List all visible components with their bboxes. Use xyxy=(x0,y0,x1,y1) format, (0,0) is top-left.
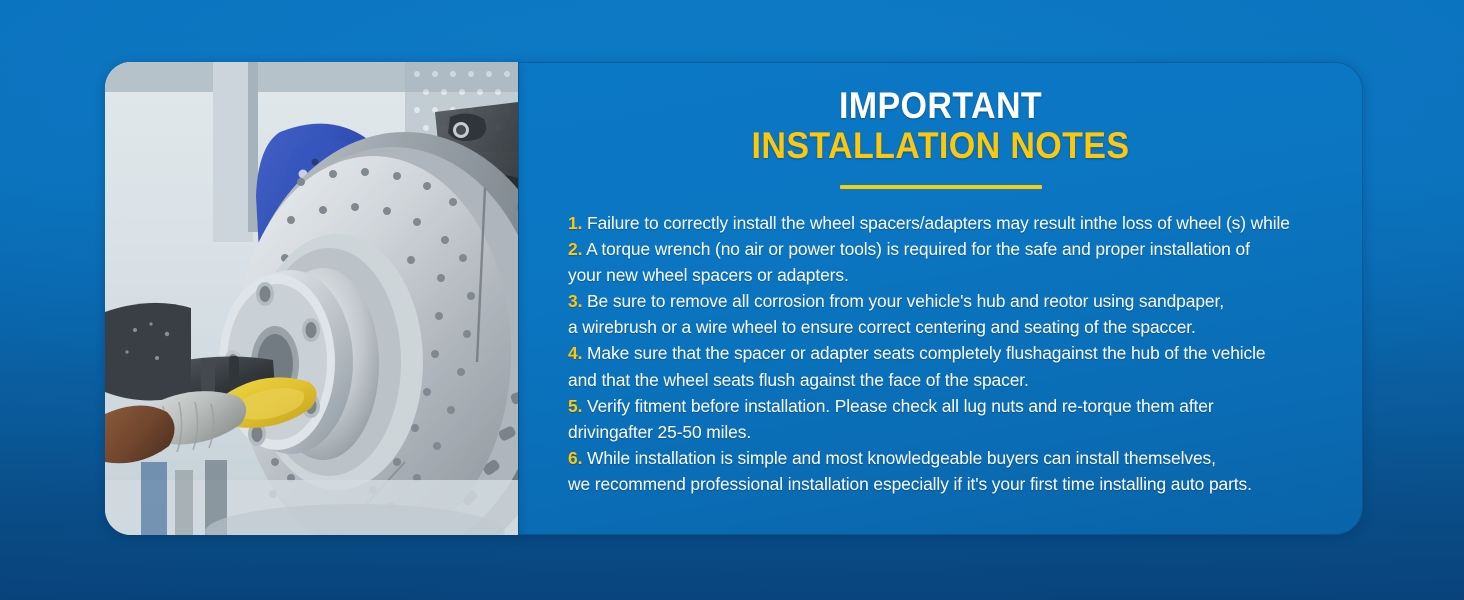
note-text: A torque wrench (no air or power tools) … xyxy=(586,239,1250,259)
note-number: 3. xyxy=(568,291,582,311)
note-text: a wirebrush or a wire wheel to ensure co… xyxy=(568,317,1196,337)
note-text: your new wheel spacers or adapters. xyxy=(568,265,849,285)
note-item: 5. Verify fitment before installation. P… xyxy=(568,393,1349,419)
note-number: 2. xyxy=(568,239,582,259)
note-text: Make sure that the spacer or adapter sea… xyxy=(587,343,1265,363)
note-text: and that the wheel seats flush against t… xyxy=(568,370,1029,390)
title-installation-notes: INSTALLATION NOTES xyxy=(552,126,1329,166)
note-continuation-line: and that the wheel seats flush against t… xyxy=(568,367,1349,393)
note-text: drivingafter 25-50 miles. xyxy=(568,422,751,442)
promo-banner: IMPORTANT INSTALLATION NOTES 1. Failure … xyxy=(0,0,1464,600)
note-text: Verify fitment before installation. Plea… xyxy=(587,396,1214,416)
installation-notes-card: IMPORTANT INSTALLATION NOTES 1. Failure … xyxy=(518,62,1363,535)
note-item: 2. A torque wrench (no air or power tool… xyxy=(568,236,1349,262)
note-number: 5. xyxy=(568,396,582,416)
note-text: Failure to correctly install the wheel s… xyxy=(587,213,1290,233)
note-number: 4. xyxy=(568,343,582,363)
note-text: While installation is simple and most kn… xyxy=(587,448,1216,468)
note-item: 4. Make sure that the spacer or adapter … xyxy=(568,340,1349,366)
note-continuation-line: your new wheel spacers or adapters. xyxy=(568,262,1349,288)
note-text: Be sure to remove all corrosion from you… xyxy=(587,291,1224,311)
note-number: 6. xyxy=(568,448,582,468)
note-continuation-line: drivingafter 25-50 miles. xyxy=(568,419,1349,445)
note-item: 1. Failure to correctly install the whee… xyxy=(568,210,1349,236)
note-number: 1. xyxy=(568,213,582,233)
title-important: IMPORTANT xyxy=(552,86,1329,126)
note-item: 6. While installation is simple and most… xyxy=(568,445,1349,471)
note-continuation-line: a wirebrush or a wire wheel to ensure co… xyxy=(568,314,1349,340)
notes-list: 1. Failure to correctly install the whee… xyxy=(518,189,1363,497)
card-title-block: IMPORTANT INSTALLATION NOTES xyxy=(518,62,1363,189)
note-item: 3. Be sure to remove all corrosion from … xyxy=(568,288,1349,314)
note-continuation-line: we recommend professional installation e… xyxy=(568,471,1349,497)
note-text: we recommend professional installation e… xyxy=(568,474,1252,494)
brake-installation-photo xyxy=(105,62,518,535)
photo-illustration xyxy=(105,62,518,535)
